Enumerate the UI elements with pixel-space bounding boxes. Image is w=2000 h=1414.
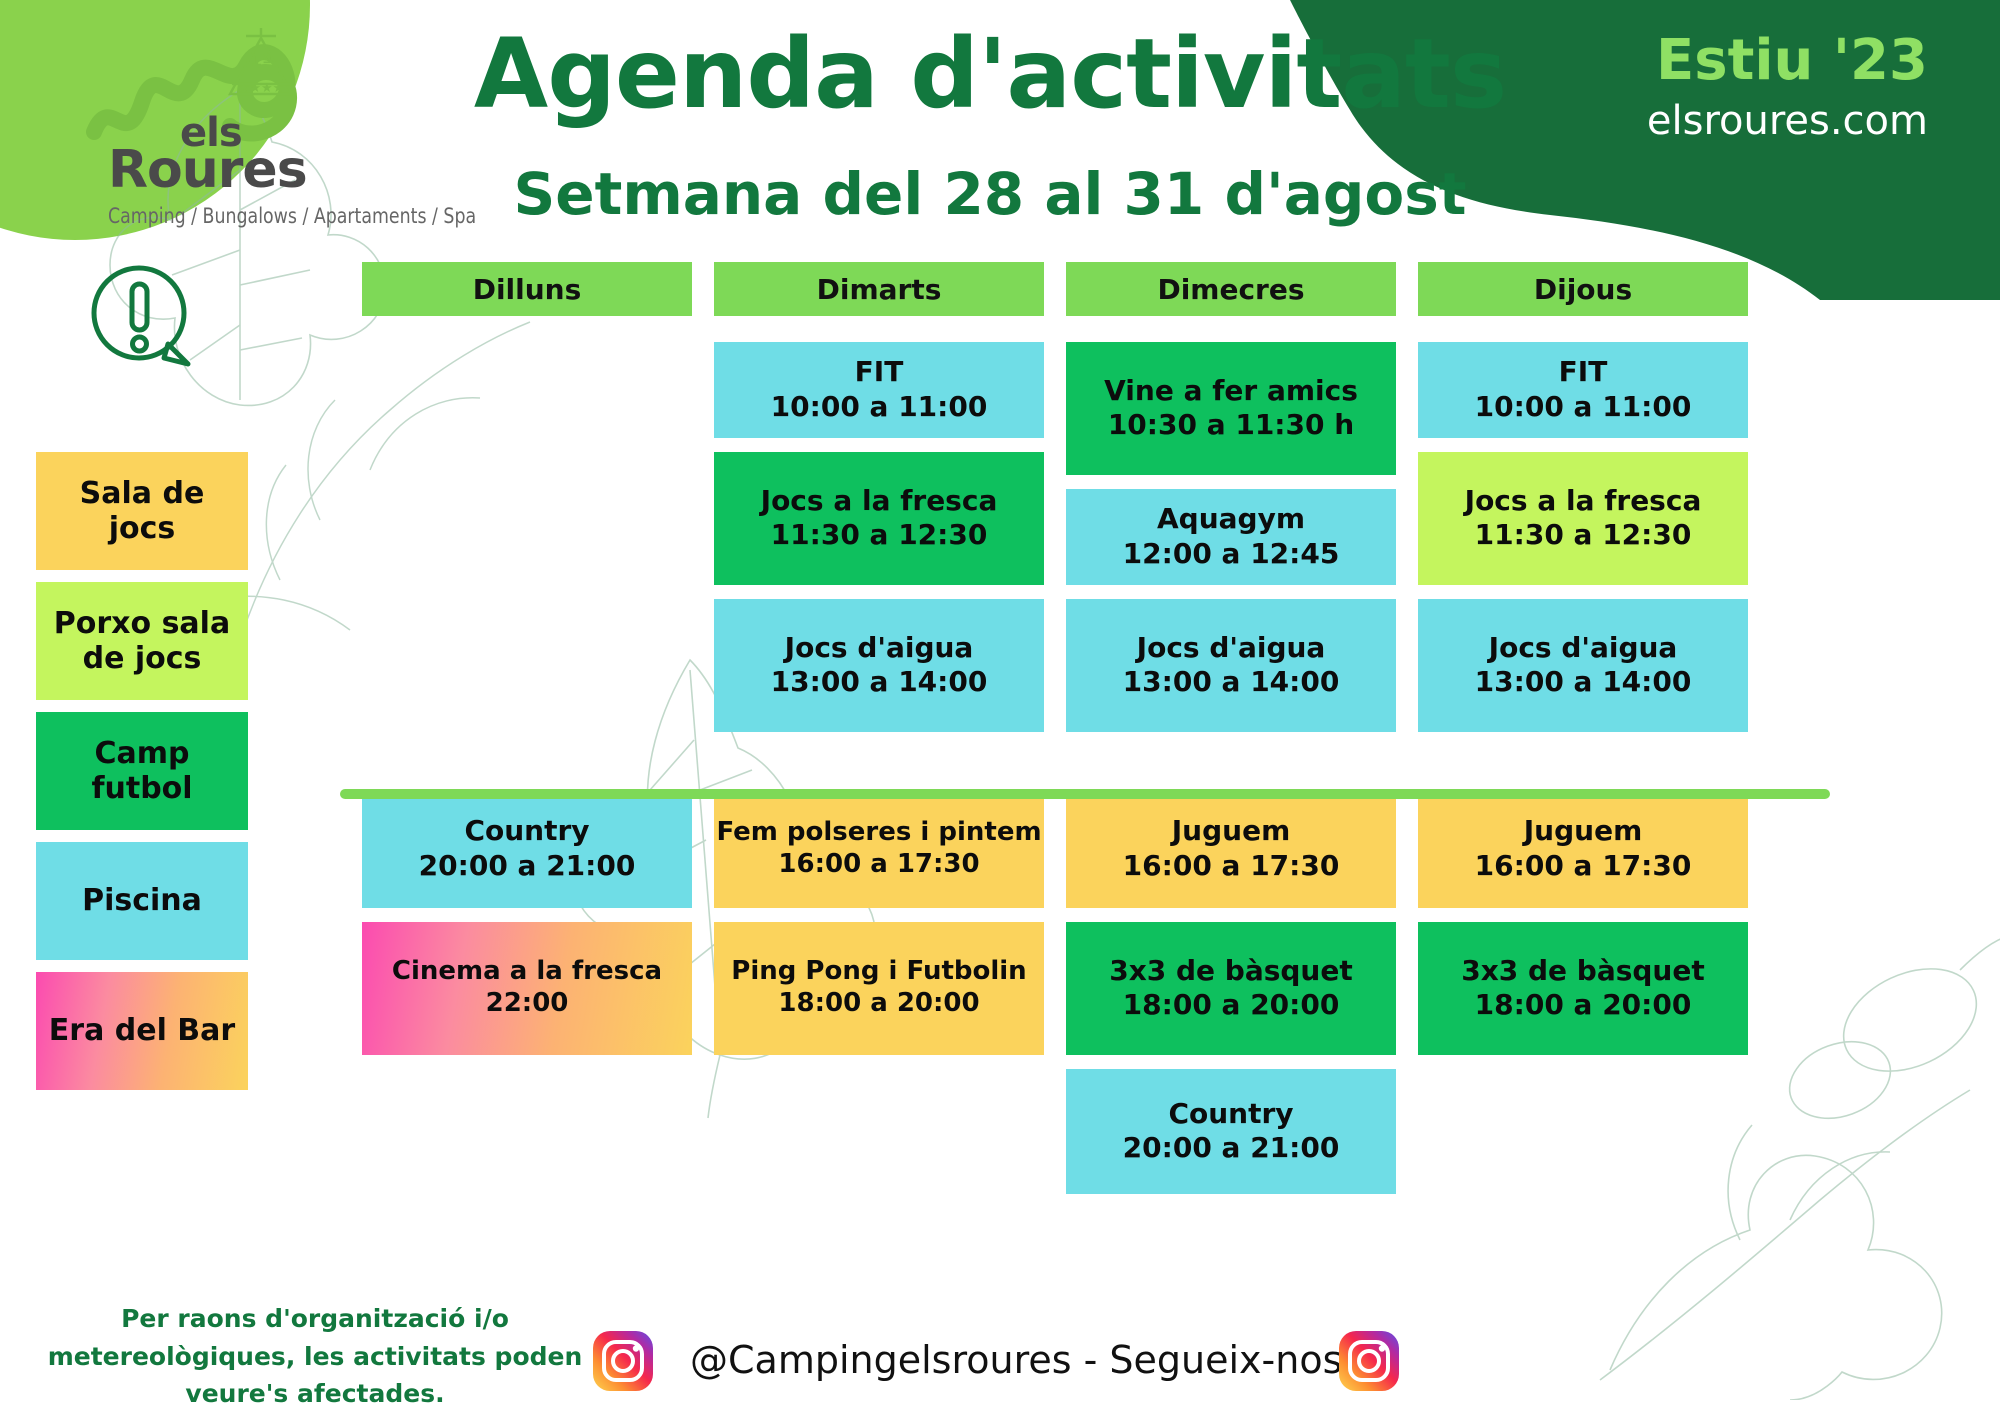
activity-card[interactable]: Ping Pong i Futbolin 18:00 a 20:00 [714, 922, 1044, 1055]
legend-item-sala-de-jocs: Sala de jocs [36, 452, 248, 570]
activity-time: 11:30 a 12:30 [1475, 517, 1692, 552]
day-header-label: Dimarts [817, 273, 942, 306]
logo-stars: ★★★★ [238, 81, 285, 96]
activity-card[interactable]: 3x3 de bàsquet 18:00 a 20:00 [1418, 922, 1748, 1055]
afternoon-column-dijous: Juguem 16:00 a 17:30 3x3 de bàsquet 18:0… [1418, 790, 1748, 1208]
activity-title: Country [464, 815, 589, 847]
morning-column-dimecres: Vine a fer amics 10:30 a 11:30 h Aquagym… [1066, 342, 1396, 746]
activity-time: 18:00 a 20:00 [1475, 987, 1692, 1022]
legend-item-piscina: Piscina [36, 842, 248, 960]
morning-column-dijous: FIT 10:00 a 11:00 Jocs a la fresca 11:30… [1418, 342, 1748, 746]
day-header-dimarts: Dimarts [714, 262, 1044, 316]
activity-title: Jocs d'aigua [1137, 632, 1326, 664]
legend-label: Sala de jocs [42, 476, 242, 547]
afternoon-column-dimecres: Juguem 16:00 a 17:30 3x3 de bàsquet 18:0… [1066, 790, 1396, 1208]
brand-logo: 1ª ★★★★ els Roures Camping / Bungalows /… [80, 22, 430, 212]
activity-title: FIT [855, 356, 904, 388]
activity-time: 10:00 a 11:00 [771, 389, 988, 424]
activity-title: Ping Pong i Futbolin [731, 957, 1026, 987]
activity-title: Jocs a la fresca [761, 485, 998, 517]
activity-card[interactable]: Country 20:00 a 21:00 [1066, 1069, 1396, 1194]
legend-item-porxo-sala-de-jocs: Porxo sala de jocs [36, 582, 248, 700]
activity-time: 16:00 a 17:30 [778, 848, 979, 881]
day-header-dimecres: Dimecres [1066, 262, 1396, 316]
activity-time: 16:00 a 17:30 [1123, 848, 1340, 883]
instagram-handle[interactable]: @Campingelsroures - Segueix-nos! [690, 1338, 1310, 1382]
activity-card[interactable]: Juguem 16:00 a 17:30 [1066, 790, 1396, 908]
day-header-label: Dijous [1534, 273, 1632, 306]
activity-time: 13:00 a 14:00 [771, 664, 988, 699]
activity-time: 16:00 a 17:30 [1475, 848, 1692, 883]
activity-time: 20:00 a 21:00 [1123, 1130, 1340, 1165]
section-divider [340, 789, 1830, 799]
activity-title: Aquagym [1157, 503, 1305, 535]
activity-title: FIT [1559, 356, 1608, 388]
page-title: Agenda d'activitats [430, 18, 1550, 130]
activity-card[interactable]: Cinema a la fresca 22:00 [362, 922, 692, 1055]
activity-schedule: Dilluns Dimarts Dimecres Dijous FIT 10:0… [362, 262, 1822, 1208]
activity-time: 18:00 a 20:00 [1123, 987, 1340, 1022]
activity-card[interactable]: FIT 10:00 a 11:00 [714, 342, 1044, 438]
activity-card[interactable]: Aquagym 12:00 a 12:45 [1066, 489, 1396, 585]
legend-item-era-del-bar: Era del Bar [36, 972, 248, 1090]
legend-label: Camp futbol [42, 736, 242, 807]
activity-title: Jocs a la fresca [1465, 485, 1702, 517]
activity-title: Jocs d'aigua [785, 632, 974, 664]
instagram-icon[interactable] [1338, 1330, 1400, 1392]
activity-time: 11:30 a 12:30 [771, 517, 988, 552]
legend-label: Porxo sala de jocs [42, 606, 242, 677]
activity-time: 12:00 a 12:45 [1123, 536, 1340, 571]
activity-title: Fem polseres i pintem [716, 818, 1041, 848]
activity-card[interactable]: Juguem 16:00 a 17:30 [1418, 790, 1748, 908]
activity-card[interactable]: Fem polseres i pintem 16:00 a 17:30 [714, 790, 1044, 908]
activity-title: Jocs d'aigua [1489, 632, 1678, 664]
activity-card[interactable]: 3x3 de bàsquet 18:00 a 20:00 [1066, 922, 1396, 1055]
activity-title: 3x3 de bàsquet [1461, 955, 1705, 987]
season-label: Estiu '23 [1656, 28, 1928, 93]
activity-title: Juguem [1524, 815, 1643, 847]
day-header-dilluns: Dilluns [362, 262, 692, 316]
activity-card[interactable]: Jocs d'aigua 13:00 a 14:00 [714, 599, 1044, 732]
afternoon-activities: Country 20:00 a 21:00 Cinema a la fresca… [362, 790, 1822, 1208]
day-header-label: Dimecres [1157, 273, 1304, 306]
day-header-row: Dilluns Dimarts Dimecres Dijous [362, 262, 1822, 316]
afternoon-column-dimarts: Fem polseres i pintem 16:00 a 17:30 Ping… [714, 790, 1044, 1208]
activity-card[interactable]: Jocs d'aigua 13:00 a 14:00 [1066, 599, 1396, 732]
instagram-icon[interactable] [592, 1330, 654, 1392]
logo-text-roures: Roures [108, 140, 307, 200]
activity-time: 18:00 a 20:00 [778, 987, 979, 1020]
disclaimer-text: Per raons d'organització i/o metereològi… [30, 1300, 600, 1413]
activity-time: 10:30 a 11:30 h [1108, 407, 1354, 442]
activity-time: 22:00 [486, 987, 569, 1020]
activity-title: Cinema a la fresca [392, 957, 662, 987]
activity-time: 20:00 a 21:00 [419, 848, 636, 883]
activity-card[interactable]: FIT 10:00 a 11:00 [1418, 342, 1748, 438]
legend-label: Era del Bar [49, 1013, 235, 1048]
page-subtitle: Setmana del 28 al 31 d'agost [430, 160, 1550, 228]
activity-title: 3x3 de bàsquet [1109, 955, 1353, 987]
activity-title: Vine a fer amics [1104, 375, 1358, 407]
morning-column-dilluns [362, 342, 692, 746]
logo-tagline: Camping / Bungalows / Apartaments / Spa [108, 204, 476, 228]
activity-time: 13:00 a 14:00 [1475, 664, 1692, 699]
legend-label: Piscina [82, 883, 202, 918]
activity-time: 13:00 a 14:00 [1123, 664, 1340, 699]
website-label: elsroures.com [1647, 98, 1928, 144]
activity-card[interactable]: Country 20:00 a 21:00 [362, 790, 692, 908]
activity-time: 10:00 a 11:00 [1475, 389, 1692, 424]
activity-card[interactable]: Jocs a la fresca 11:30 a 12:30 [714, 452, 1044, 585]
activity-card[interactable]: Vine a fer amics 10:30 a 11:30 h [1066, 342, 1396, 475]
legend-item-camp-futbol: Camp futbol [36, 712, 248, 830]
morning-activities: FIT 10:00 a 11:00 Jocs a la fresca 11:30… [362, 342, 1822, 746]
day-header-dijous: Dijous [1418, 262, 1748, 316]
afternoon-column-dilluns: Country 20:00 a 21:00 Cinema a la fresca… [362, 790, 692, 1208]
activity-title: Juguem [1172, 815, 1291, 847]
morning-column-dimarts: FIT 10:00 a 11:00 Jocs a la fresca 11:30… [714, 342, 1044, 746]
activity-title: Country [1168, 1098, 1293, 1130]
activity-card[interactable]: Jocs a la fresca 11:30 a 12:30 [1418, 452, 1748, 585]
day-header-label: Dilluns [473, 273, 582, 306]
activity-card[interactable]: Jocs d'aigua 13:00 a 14:00 [1418, 599, 1748, 732]
exclamation-bubble-icon [84, 258, 202, 376]
logo-badge-text: 1ª [250, 51, 271, 71]
venue-legend: Sala de jocs Porxo sala de jocs Camp fut… [36, 452, 248, 1102]
